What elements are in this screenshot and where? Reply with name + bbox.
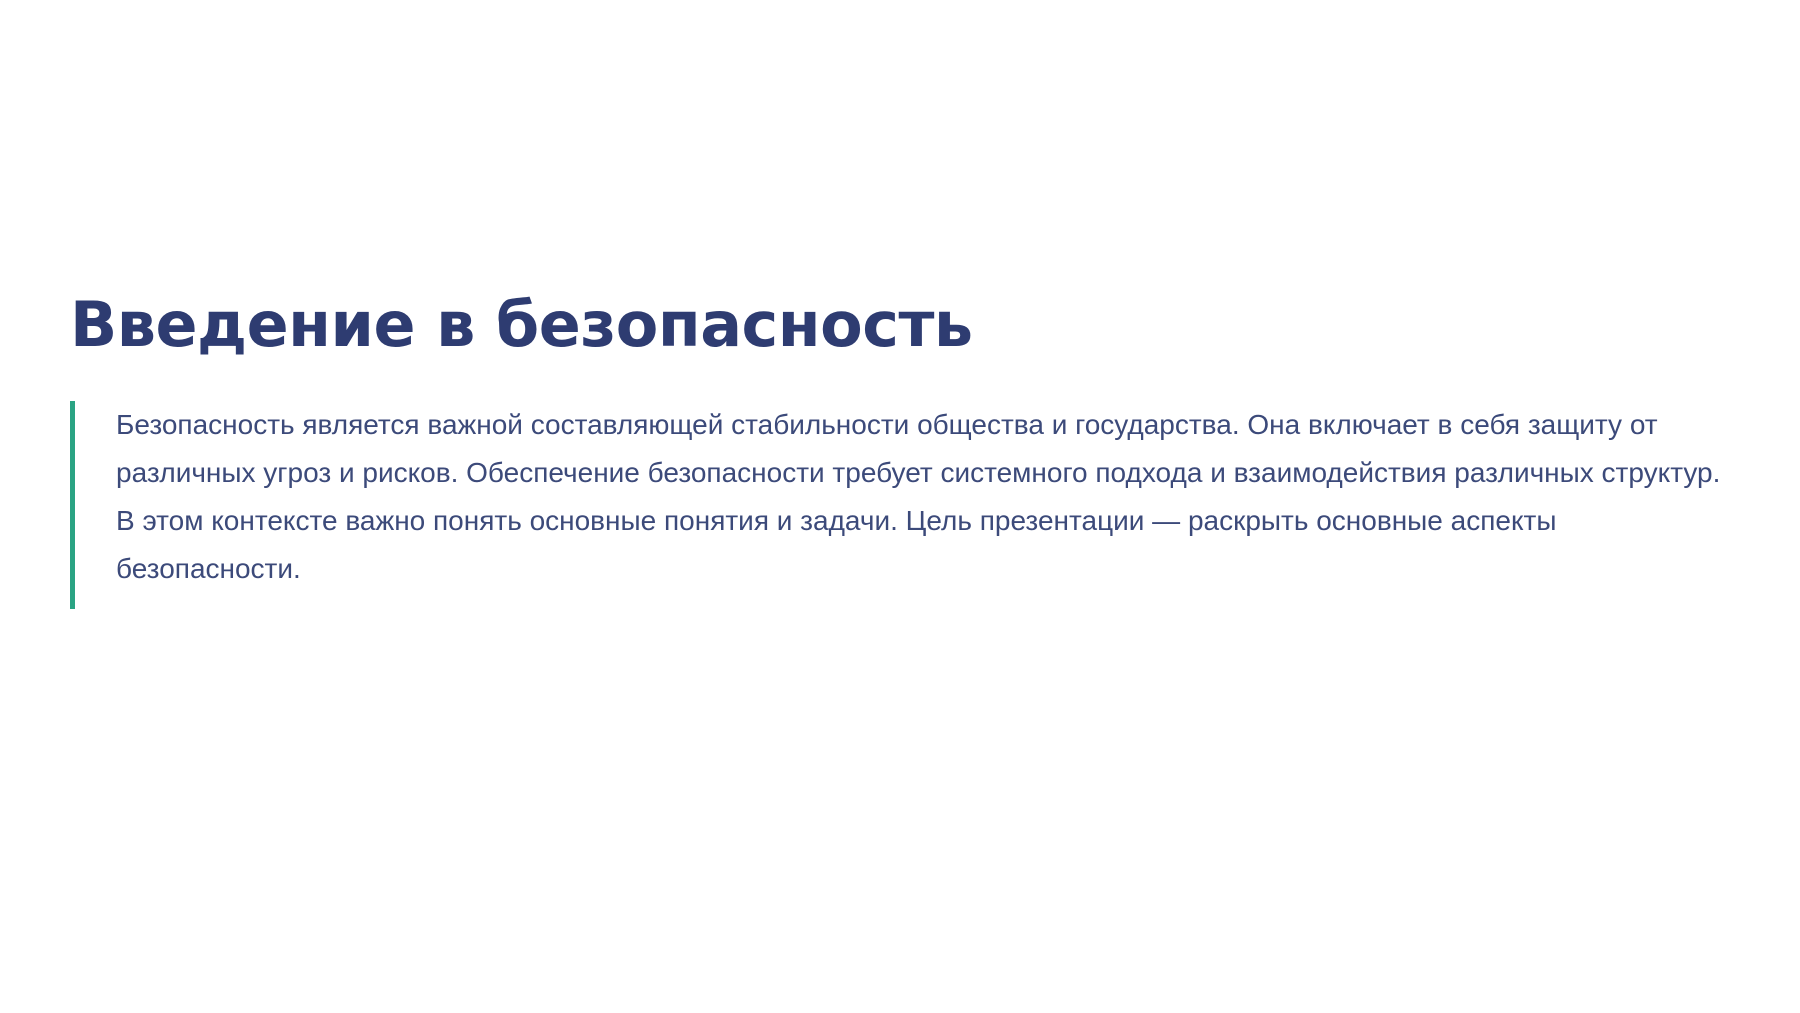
presentation-slide: Введение в безопасность Безопасность явл… [0,0,1800,1013]
slide-title: Введение в безопасность [70,292,1730,359]
accent-bar [70,401,75,609]
slide-body-text: Безопасность является важной составляюще… [116,401,1730,593]
slide-content: Введение в безопасность Безопасность явл… [70,292,1730,609]
slide-body-block: Безопасность является важной составляюще… [70,401,1730,609]
